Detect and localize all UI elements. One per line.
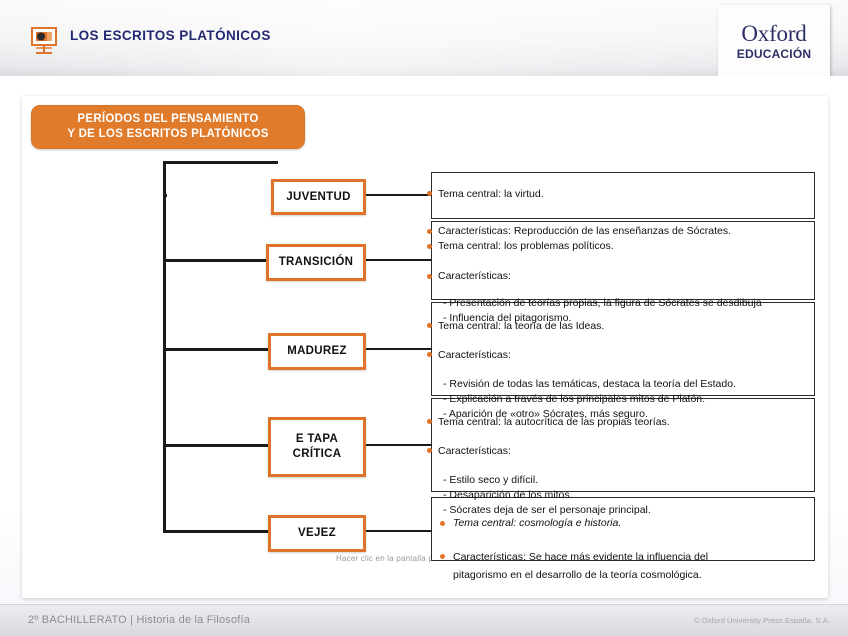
stage-label-critica: CRÍTICA [293, 447, 342, 462]
presentation-screen-icon [27, 24, 61, 56]
content-line: - Explicación a través de los principale… [443, 392, 705, 407]
banner-line-2: Y DE LOS ESCRITOS PLATÓNICOS [67, 127, 268, 142]
page-title: LOS ESCRITOS PLATÓNICOS [70, 28, 271, 43]
connector-branch-juventud [163, 194, 167, 197]
oxford-logo-subtitle: EDUCACIÓN [718, 47, 830, 61]
bullet-dot [427, 274, 432, 279]
content-line: Tema central: la autocrítica de las prop… [438, 415, 670, 430]
oxford-logo-word: Oxford [718, 21, 830, 47]
content-line: Tema central: los problemas políticos. [438, 239, 614, 254]
bullet-dot [427, 323, 432, 328]
content-line: Tema central: cosmología e historia. [453, 516, 621, 531]
content-line: Características: [438, 444, 511, 459]
oxford-logo: Oxford EDUCACIÓN [718, 5, 830, 77]
connector-madurez-to-content [360, 348, 432, 350]
content-line: - Revisión de todas las temáticas, desta… [443, 377, 736, 392]
stage-box-madurez[interactable]: MADUREZ [268, 333, 366, 370]
content-line: Características: [438, 269, 511, 284]
content-line: Características: Se hace más evidente la… [453, 550, 708, 565]
content-line: pitagorismo en el desarrollo de la teorí… [453, 568, 702, 583]
footer-bar: 2º BACHILLERATO | Historia de la Filosof… [0, 604, 848, 636]
bullet-dot [427, 191, 432, 196]
connector-branch-etapa-critica [163, 444, 278, 447]
content-line: - Presentación de teorías propias, la fi… [443, 296, 762, 311]
bullet-dot [427, 244, 432, 249]
connector-vertical-trunk [163, 161, 166, 532]
footer-copyright: © Oxford University Press España, S.A. [694, 616, 830, 625]
stage-label-juventud: JUVENTUD [286, 190, 350, 205]
stage-box-transicion[interactable]: TRANSICIÓN [266, 244, 366, 281]
content-line: Características: [438, 348, 511, 363]
footer-course-label: 2º BACHILLERATO | Historia de la Filosof… [28, 614, 250, 626]
bullet-dot [427, 229, 432, 234]
banner-line-1: PERÍODOS DEL PENSAMIENTO [77, 112, 258, 127]
connector-branch-transicion [163, 259, 278, 262]
stage-label-transicion: TRANSICIÓN [279, 255, 354, 270]
bullet-dot [440, 521, 445, 526]
bullet-dot [427, 448, 432, 453]
bullet-dot [427, 352, 432, 357]
stage-label-madurez: MADUREZ [287, 344, 347, 359]
stage-label-vejez: VEJEZ [298, 526, 336, 541]
content-line: Tema central: la teoría de las Ideas. [438, 319, 604, 334]
content-line: - Desaparición de los mitos. [443, 488, 573, 503]
connector-top-horizontal [163, 161, 278, 164]
header-bar: LOS ESCRITOS PLATÓNICOS Oxford EDUCACIÓN [0, 0, 848, 77]
connector-juventud-to-content [360, 194, 432, 196]
connector-branch-madurez [163, 348, 278, 351]
connector-vejez-to-content [360, 530, 432, 532]
stage-box-etapa-critica[interactable]: E TAPA CRÍTICA [268, 417, 366, 477]
content-line: Características: Reproducción de las ens… [438, 224, 731, 239]
connector-transicion-to-content [360, 259, 432, 261]
slide-stage: LOS ESCRITOS PLATÓNICOS Oxford EDUCACIÓN… [0, 0, 848, 636]
stage-box-juventud[interactable]: JUVENTUD [271, 179, 366, 215]
diagram-title-banner: PERÍODOS DEL PENSAMIENTO Y DE LOS ESCRIT… [31, 105, 305, 149]
content-line: Tema central: la virtud. [438, 187, 544, 202]
stage-label-etapa: E TAPA [296, 432, 338, 447]
stage-box-vejez[interactable]: VEJEZ [268, 515, 366, 552]
connector-branch-vejez [163, 530, 278, 533]
connector-etapa-to-content [360, 444, 432, 446]
content-line: - Estilo seco y difícil. [443, 473, 538, 488]
bullet-dot [427, 419, 432, 424]
bullet-dot [440, 554, 445, 559]
